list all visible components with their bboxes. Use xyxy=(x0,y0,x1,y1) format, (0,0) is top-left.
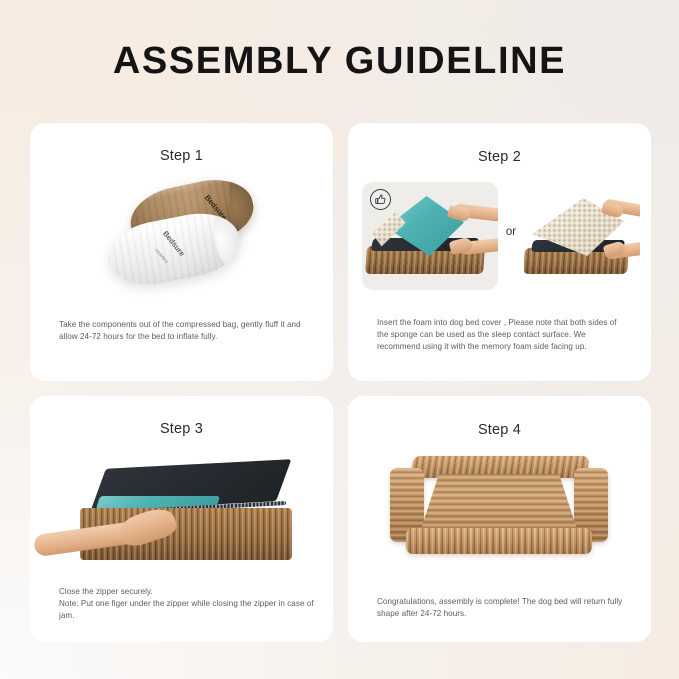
bolster-front xyxy=(406,528,592,554)
step-3-caption: Close the zipper securely. Note: Put one… xyxy=(59,586,317,623)
step-4-caption: Congratulations, assembly is complete! T… xyxy=(377,596,625,620)
step-2-option-teal-panel xyxy=(362,182,498,290)
step-card-4: Step 4 Congratulations, assembly i xyxy=(348,396,651,642)
cushion-rib-texture xyxy=(420,474,578,532)
step-card-3: Step 3 Close the zipper securely. Note: … xyxy=(30,396,333,642)
step-2-caption: Insert the foam into dog bed cover , Ple… xyxy=(377,317,629,354)
step-4-illustration xyxy=(390,454,608,564)
step-3-title: Step 3 xyxy=(30,421,333,437)
step-2-title: Step 2 xyxy=(348,149,651,165)
bed-cushion-surface xyxy=(420,474,578,532)
step-1-title: Step 1 xyxy=(30,148,333,164)
step-2-option-memoryfoam-panel xyxy=(524,182,640,290)
step-card-2: Step 2 or xyxy=(348,123,651,381)
page-title: ASSEMBLY GUIDELINE xyxy=(0,40,679,83)
step-2-or-connector: or xyxy=(498,226,524,238)
corduroy-rib-texture xyxy=(406,528,592,554)
step-1-illustration: Bedsure comfort Bedsure comfort xyxy=(90,178,280,298)
assembly-guideline-infographic: ASSEMBLY GUIDELINE Step 1 Bedsure comfor… xyxy=(0,0,679,679)
compressed-bag-white: Bedsure comfort xyxy=(103,206,244,292)
step-3-illustration xyxy=(58,462,310,572)
step-card-1: Step 1 Bedsure comfort Bedsure comfort T… xyxy=(30,123,333,381)
step-1-caption: Take the components out of the compresse… xyxy=(59,319,307,343)
thumbs-up-icon xyxy=(370,189,391,210)
step-4-title: Step 4 xyxy=(348,422,651,438)
